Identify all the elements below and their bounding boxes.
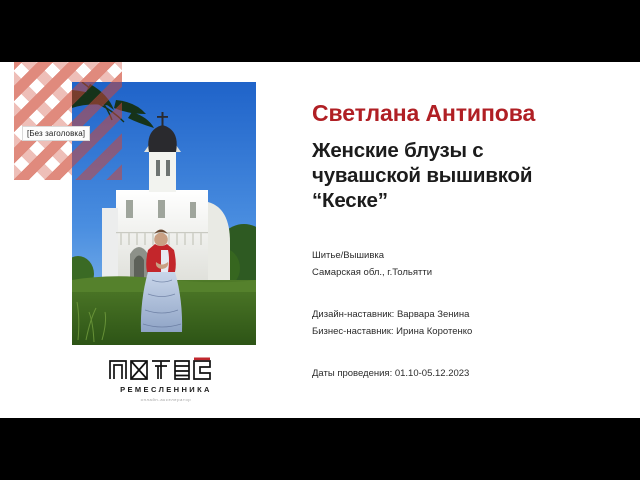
- project-photo: [72, 82, 256, 345]
- slide-text-block: Светлана Антипова Женские блузы с чувашс…: [312, 62, 612, 418]
- business-mentor: Бизнес-наставник: Ирина Коротенко: [312, 323, 472, 340]
- slide-canvas: [Без заголовка]: [0, 62, 640, 418]
- author-name: Светлана Антипова: [312, 100, 535, 127]
- church-portrait-illustration: [72, 82, 256, 345]
- logo-accent-bar: [194, 358, 210, 361]
- project-category: Шитье/Вышивка: [312, 247, 384, 264]
- presentation-slide-viewer: [Без заголовка]: [0, 0, 640, 480]
- design-mentor: Дизайн-наставник: Варвара Зенина: [312, 306, 469, 323]
- status-badge: [Без заголовка]: [22, 126, 90, 141]
- logo-mark-icon: [108, 357, 224, 381]
- project-location: Самарская обл., г.Тольятти: [312, 264, 432, 281]
- letterbox-bottom: [0, 418, 640, 480]
- project-title: Женские блузы с чувашской вышивкой “Кеск…: [312, 138, 574, 213]
- program-dates: Даты проведения: 01.10-05.12.2023: [312, 365, 469, 382]
- logo-tagline: онлайн-акселератор: [96, 397, 236, 402]
- letterbox-top: [0, 0, 640, 62]
- logo-brand-name: РЕМЕСЛЕННИКА: [96, 385, 236, 394]
- slide-visual-block: [Без заголовка]: [0, 62, 285, 418]
- brand-logo: РЕМЕСЛЕННИКА онлайн-акселератор: [96, 357, 236, 402]
